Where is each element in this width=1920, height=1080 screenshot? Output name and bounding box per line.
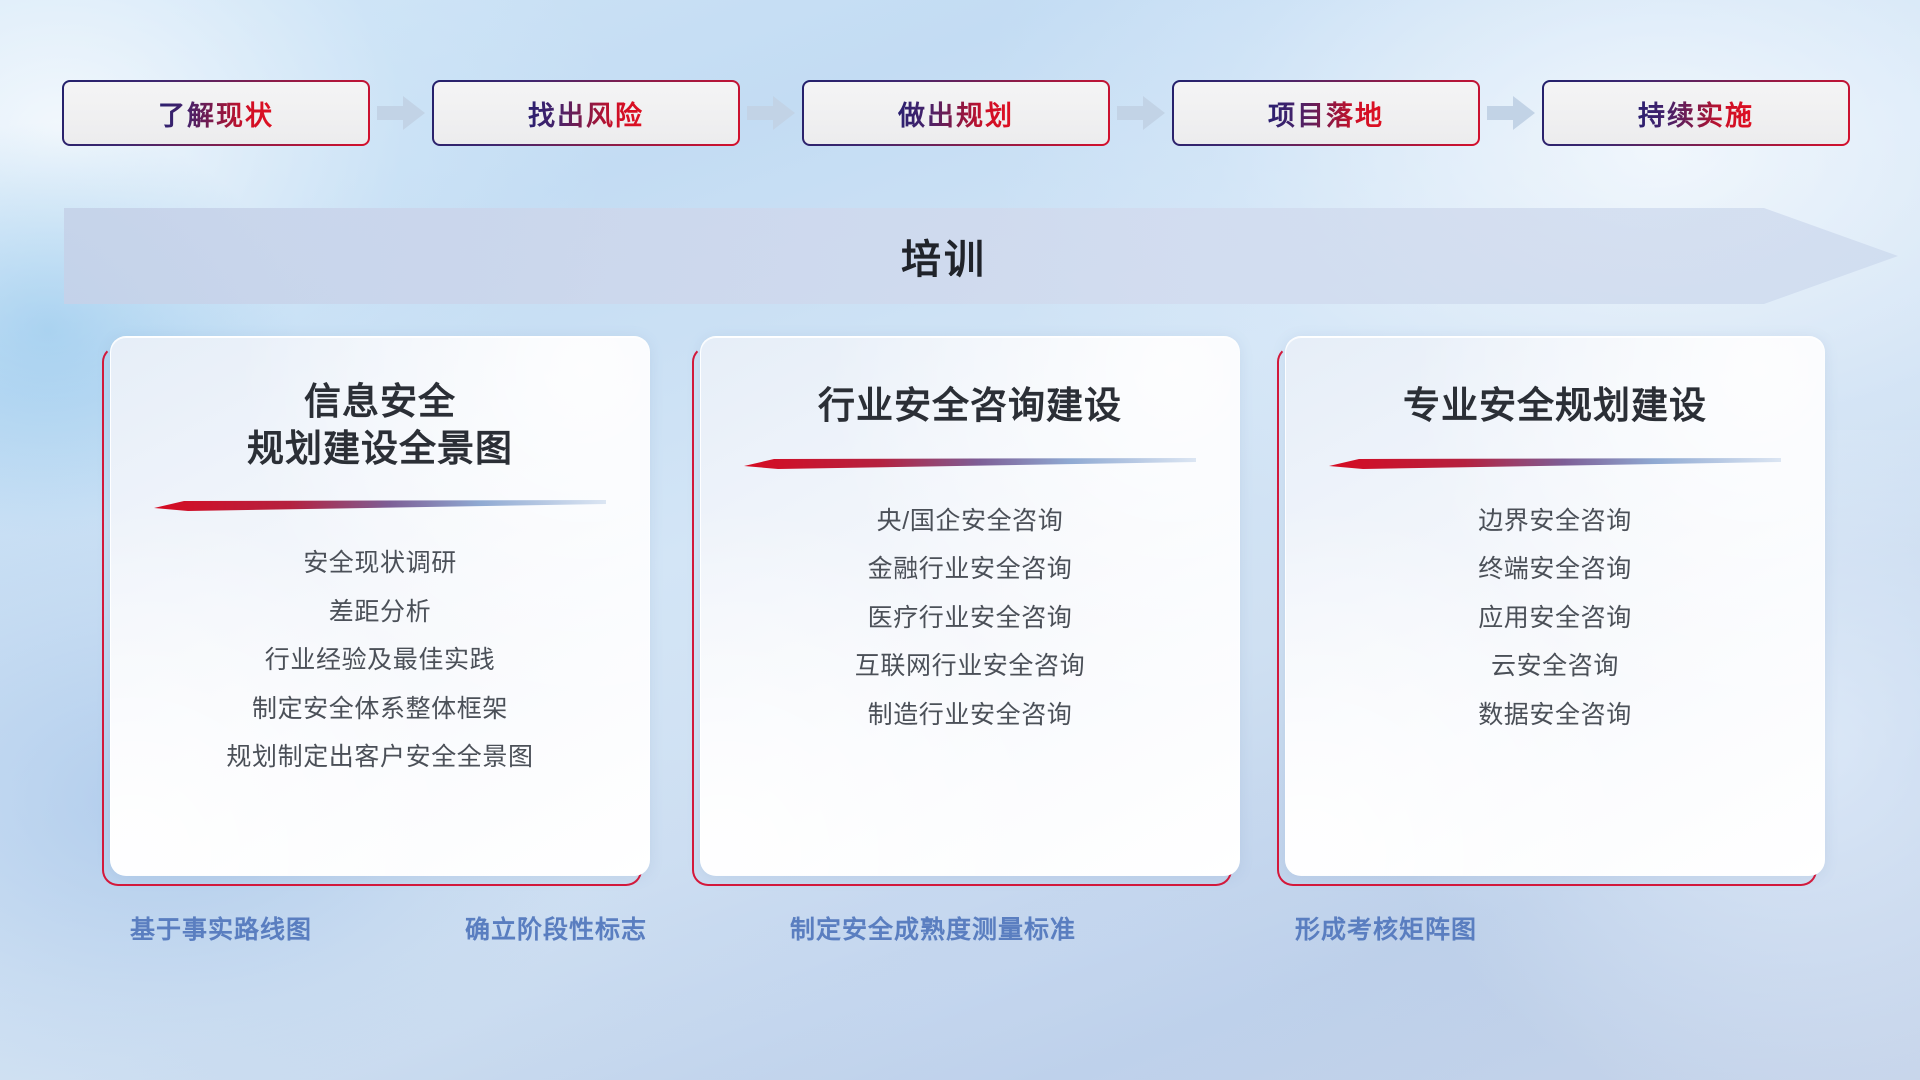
- gradient-divider-icon: [154, 500, 606, 511]
- step-label-5: 持续实施: [1638, 94, 1754, 133]
- list-item: 医疗行业安全咨询: [868, 598, 1073, 639]
- card-2-panel: 行业安全咨询建设: [700, 336, 1240, 876]
- step-arrow-4: [1480, 93, 1542, 133]
- list-item: 行业经验及最佳实践: [265, 640, 495, 681]
- step-label-2: 找出风险: [528, 94, 644, 133]
- step-label-1: 了解现状: [158, 94, 274, 133]
- step-arrow-2: [740, 93, 802, 133]
- card-3[interactable]: 专业安全规划建设: [1285, 336, 1825, 886]
- card-row: 信息安全 规划建设全景图: [0, 336, 1920, 886]
- card-3-divider: [1329, 458, 1781, 469]
- step-label-3: 做出规划: [898, 94, 1014, 133]
- step-arrow-1: [370, 93, 432, 133]
- card-2-title: 行业安全咨询建设: [818, 383, 1122, 430]
- step-box-4-inner: 项目落地: [1174, 82, 1478, 144]
- card-1[interactable]: 信息安全 规划建设全景图: [110, 336, 650, 886]
- step-label-4: 项目落地: [1268, 94, 1384, 133]
- step-box-1[interactable]: 了解现状: [62, 80, 370, 146]
- step-box-5[interactable]: 持续实施: [1542, 80, 1850, 146]
- training-label: 培训: [64, 208, 1824, 304]
- list-item: 互联网行业安全咨询: [855, 646, 1085, 687]
- list-item: 应用安全咨询: [1478, 598, 1632, 639]
- card-1-panel: 信息安全 规划建设全景图: [110, 336, 650, 876]
- card-2-list: 央/国企安全咨询 金融行业安全咨询 医疗行业安全咨询 互联网行业安全咨询 制造行…: [855, 501, 1085, 736]
- list-item: 终端安全咨询: [1478, 549, 1632, 590]
- footnote-1: 基于事实路线图: [130, 910, 312, 946]
- list-item: 制定安全体系整体框架: [252, 689, 508, 730]
- footnote-2: 确立阶段性标志: [465, 910, 647, 946]
- step-box-3[interactable]: 做出规划: [802, 80, 1110, 146]
- list-item: 制造行业安全咨询: [868, 695, 1073, 736]
- list-item: 金融行业安全咨询: [868, 549, 1073, 590]
- list-item: 边界安全咨询: [1478, 501, 1632, 542]
- footnote-4: 形成考核矩阵图: [1295, 910, 1477, 946]
- step-box-3-inner: 做出规划: [804, 82, 1108, 144]
- footnote-3: 制定安全成熟度测量标准: [790, 910, 1076, 946]
- card-1-divider: [154, 500, 606, 511]
- step-box-2-inner: 找出风险: [434, 82, 738, 144]
- card-1-title: 信息安全 规划建设全景图: [247, 379, 513, 472]
- step-box-5-inner: 持续实施: [1544, 82, 1848, 144]
- step-box-4[interactable]: 项目落地: [1172, 80, 1480, 146]
- gradient-divider-icon: [744, 458, 1196, 469]
- step-box-2[interactable]: 找出风险: [432, 80, 740, 146]
- list-item: 规划制定出客户安全全景图: [226, 737, 533, 778]
- list-item: 央/国企安全咨询: [877, 501, 1064, 542]
- card-2-divider: [744, 458, 1196, 469]
- list-item: 差距分析: [329, 592, 431, 633]
- step-arrow-3: [1110, 93, 1172, 133]
- list-item: 数据安全咨询: [1478, 695, 1632, 736]
- card-1-list: 安全现状调研 差距分析 行业经验及最佳实践 制定安全体系整体框架 规划制定出客户…: [226, 543, 533, 778]
- process-step-row: 了解现状 找出风险 做出规划 项目落地: [62, 78, 1862, 148]
- card-3-panel: 专业安全规划建设: [1285, 336, 1825, 876]
- list-item: 安全现状调研: [303, 543, 457, 584]
- training-banner: 培训: [64, 208, 1898, 304]
- card-3-list: 边界安全咨询 终端安全咨询 应用安全咨询 云安全咨询 数据安全咨询: [1478, 501, 1632, 736]
- footnote-row: 基于事实路线图 确立阶段性标志 制定安全成熟度测量标准 形成考核矩阵图: [0, 910, 1920, 960]
- slide-canvas: 了解现状 找出风险 做出规划 项目落地: [0, 0, 1920, 1080]
- card-3-title: 专业安全规划建设: [1403, 383, 1707, 430]
- list-item: 云安全咨询: [1491, 646, 1619, 687]
- gradient-divider-icon: [1329, 458, 1781, 469]
- card-2[interactable]: 行业安全咨询建设: [700, 336, 1240, 886]
- step-box-1-inner: 了解现状: [64, 82, 368, 144]
